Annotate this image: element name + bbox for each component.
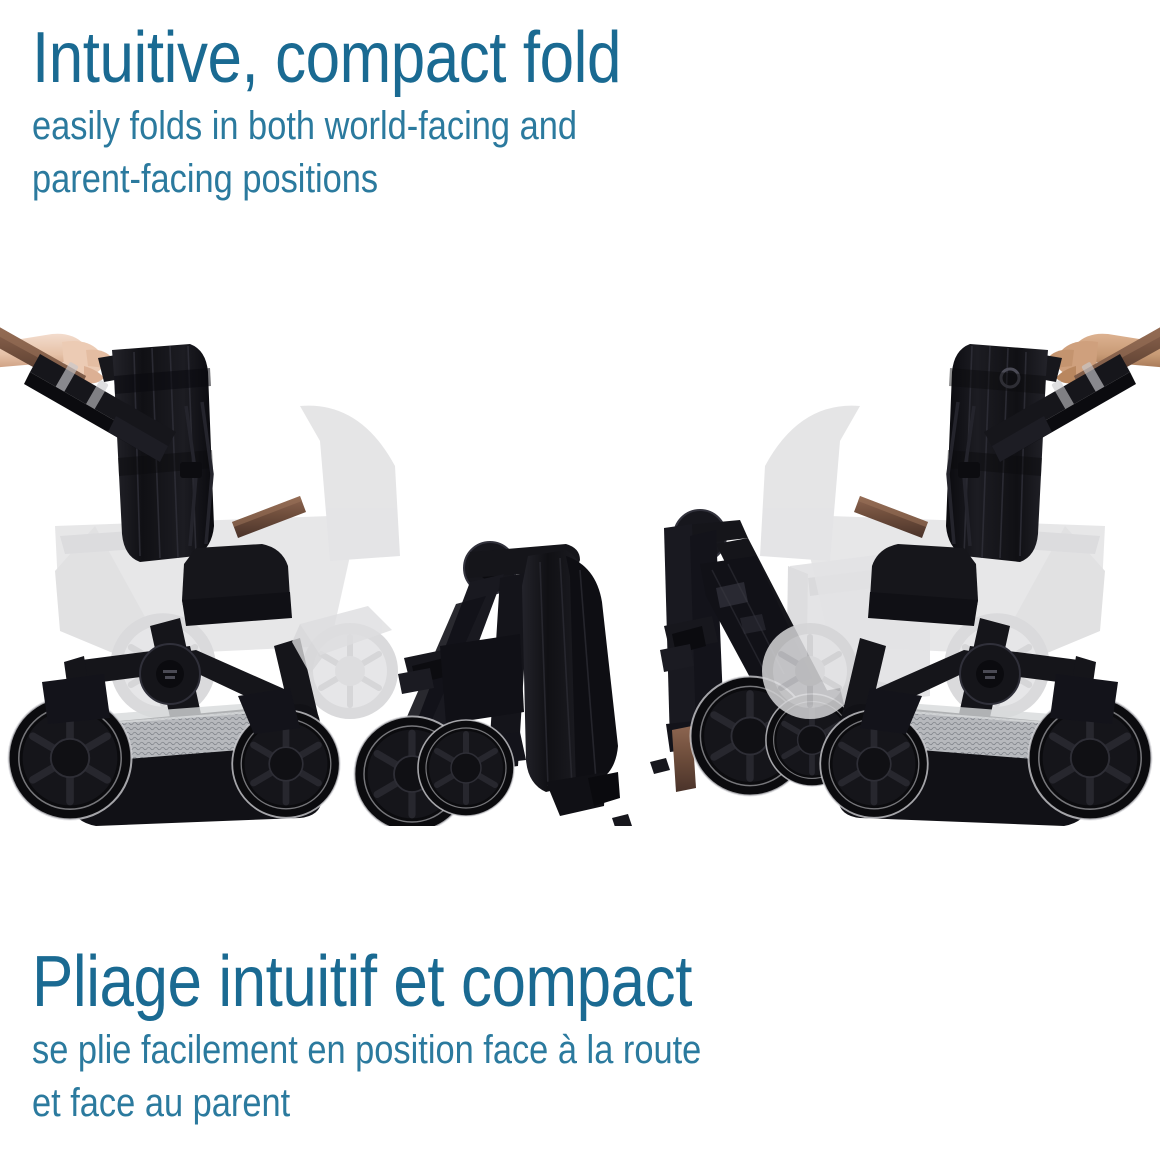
bottom-subline-1: se plie facilement en position face à la… — [32, 1024, 701, 1077]
hinge-hub-1 — [140, 644, 200, 704]
top-subline-2: parent-facing positions — [32, 153, 621, 206]
seat-unit-1 — [182, 544, 292, 626]
wheel-2b — [418, 720, 514, 816]
strap-tab-3 — [650, 758, 670, 774]
seat-fabric-2 — [440, 634, 524, 724]
rear-wheel-mount-1 — [42, 674, 110, 724]
hinge-hub-4 — [960, 644, 1020, 704]
seat-unit-4 — [868, 544, 978, 626]
harness-buckle-1 — [180, 462, 202, 478]
stroller-sequence-illustration — [0, 226, 1160, 826]
top-subline-1: easily folds in both world-facing and — [32, 100, 621, 153]
harness-buckle-4 — [958, 462, 980, 478]
top-text-block: Intuitive, compact fold easily folds in … — [32, 18, 717, 206]
folded-canopy-2 — [522, 550, 620, 816]
bottom-text-block: Pliage intuitif et compact se plie facil… — [32, 942, 810, 1130]
bottom-subline-2: et face au parent — [32, 1077, 701, 1130]
bottom-headline: Pliage intuitif et compact — [32, 942, 701, 1022]
top-headline: Intuitive, compact fold — [32, 18, 621, 98]
product-feature-image: Intuitive, compact fold easily folds in … — [0, 0, 1160, 1160]
strap-end-2 — [612, 814, 632, 826]
panel-1-stroller-folding-left — [0, 324, 400, 826]
rear-wheel-mount-4 — [1050, 674, 1118, 724]
